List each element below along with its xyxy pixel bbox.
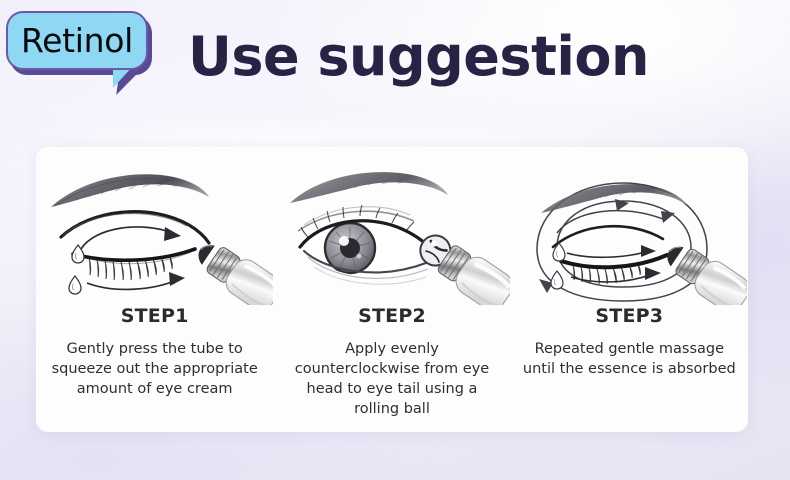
step-1-illustration [36, 155, 273, 303]
step-1-title: STEP1 [36, 305, 273, 327]
retinol-badge: Retinol [6, 11, 152, 75]
page-title: Use suggestion [188, 26, 649, 88]
step-1-description: Gently press the tube to squeeze out the… [46, 339, 264, 399]
step-item-3: STEP3 Repeated gentle massage until the … [511, 147, 748, 432]
badge-label: Retinol [6, 11, 148, 70]
step-item-1: STEP1 Gently press the tube to squeeze o… [36, 147, 273, 432]
step-3-description: Repeated gentle massage until the essenc… [520, 339, 738, 379]
step-2-title: STEP2 [273, 305, 510, 327]
step-item-2: STEP2 Apply evenly counterclockwise from… [273, 147, 510, 432]
step-2-description: Apply evenly counterclockwise from eye h… [283, 339, 501, 419]
steps-card: STEP1 Gently press the tube to squeeze o… [36, 147, 748, 432]
closed-eye-with-tube-and-droplets-icon [37, 159, 273, 305]
closed-eye-with-circular-massage-arrows-icon [511, 159, 747, 305]
header: Retinol Use suggestion [0, 0, 790, 132]
step-3-illustration [511, 155, 748, 303]
step-2-illustration [273, 155, 510, 303]
step-3-title: STEP3 [511, 305, 748, 327]
steps-list: STEP1 Gently press the tube to squeeze o… [36, 147, 748, 432]
open-eye-with-rollerball-applicator-icon [274, 159, 510, 305]
